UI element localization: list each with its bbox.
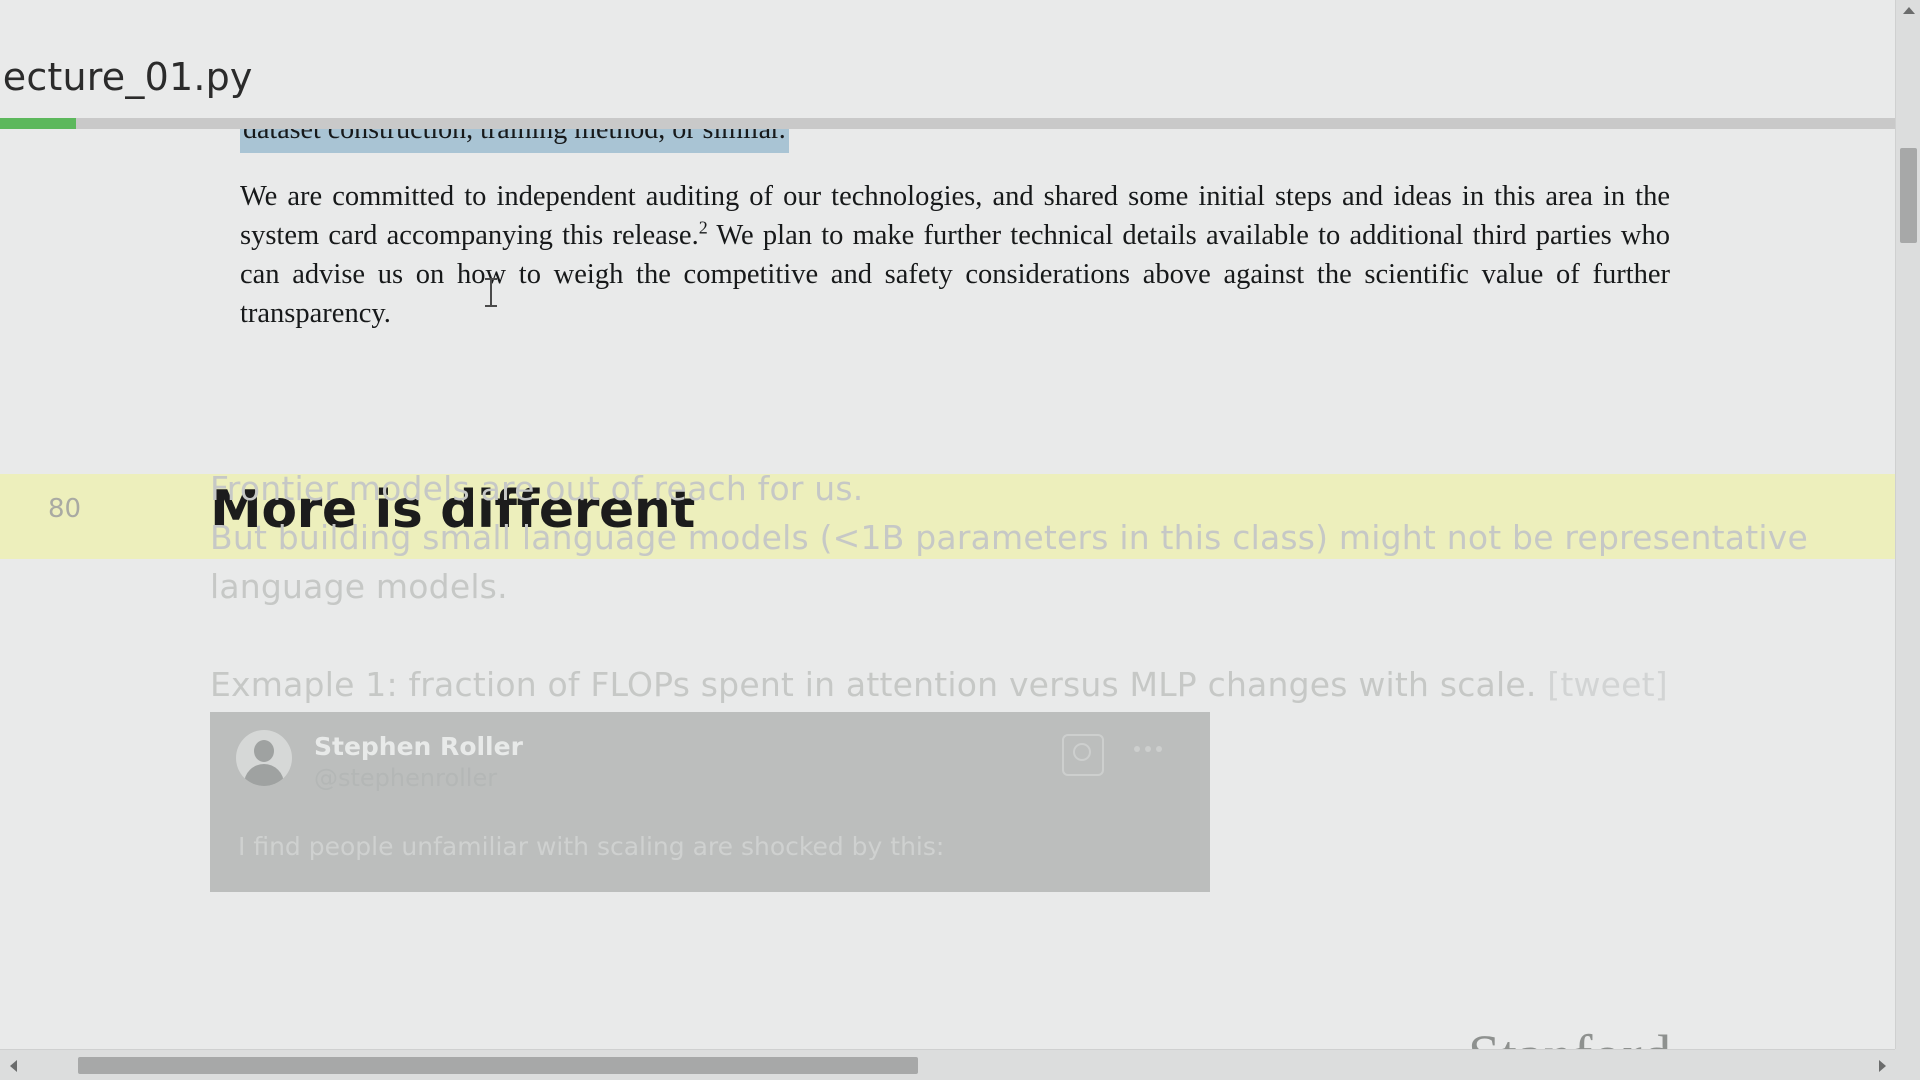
body-line-1: Frontier models are out of reach for us. xyxy=(210,469,864,508)
vertical-scrollbar-thumb[interactable] xyxy=(1900,148,1917,243)
refresh-icon-glyph xyxy=(1073,743,1091,761)
vertical-scrollbar[interactable] xyxy=(1895,0,1920,1080)
tweet-body-text: I find people unfamiliar with scaling ar… xyxy=(238,832,944,861)
app-window: lecture_01.py dataset construction, trai… xyxy=(0,0,1920,1080)
selected-text-line[interactable]: dataset construction, training method, o… xyxy=(240,129,1670,155)
document-title: lecture_01.py xyxy=(0,55,253,99)
tweet-author-handle: @stephenroller xyxy=(314,764,497,792)
more-dot-3 xyxy=(1156,746,1162,752)
horizontal-scrollbar[interactable] xyxy=(0,1049,1895,1080)
avatar-body xyxy=(244,764,284,786)
example-label: Exmaple 1: fraction of FLOPs spent in at… xyxy=(210,665,1537,704)
more-horizontal-icon[interactable] xyxy=(1134,746,1164,754)
paper-paragraph: We are committed to independent auditing… xyxy=(240,177,1670,333)
body-line-2: But building small language models (<1B … xyxy=(210,518,1808,557)
refresh-icon[interactable] xyxy=(1062,734,1104,776)
avatar xyxy=(236,730,292,786)
horizontal-scrollbar-thumb[interactable] xyxy=(78,1057,918,1074)
avatar-head xyxy=(254,740,274,762)
tweet-card[interactable]: Stephen Roller @stephenroller I find peo… xyxy=(210,712,1210,892)
paper-excerpt: dataset construction, training method, o… xyxy=(240,129,1670,333)
more-dot-2 xyxy=(1145,746,1151,752)
tweet-link[interactable]: [tweet] xyxy=(1547,665,1668,704)
more-dot-1 xyxy=(1134,746,1140,752)
footnote-marker: 2 xyxy=(699,218,708,238)
progress-bar-fill xyxy=(0,118,76,129)
chevron-right-glyph xyxy=(1879,1060,1886,1072)
body-line-3: language models. xyxy=(210,567,508,606)
chevron-right-icon[interactable] xyxy=(1869,1050,1895,1080)
stanford-logo: Stanford xyxy=(1468,1022,1672,1049)
example-line: Exmaple 1: fraction of FLOPs spent in at… xyxy=(210,665,1668,704)
line-number: 80 xyxy=(48,494,81,524)
progress-bar-track[interactable] xyxy=(0,118,1895,129)
chevron-up-icon[interactable] xyxy=(1896,0,1920,20)
slide-canvas[interactable]: dataset construction, training method, o… xyxy=(0,129,1895,1049)
chevron-up-glyph xyxy=(1903,7,1915,14)
chevron-left-icon[interactable] xyxy=(0,1050,26,1080)
chevron-left-glyph xyxy=(10,1060,17,1072)
tweet-author-name: Stephen Roller xyxy=(314,732,523,761)
title-bar: lecture_01.py xyxy=(0,0,1920,118)
scrollbar-corner xyxy=(1895,1049,1920,1080)
selected-text: dataset construction, training method, o… xyxy=(240,129,789,153)
